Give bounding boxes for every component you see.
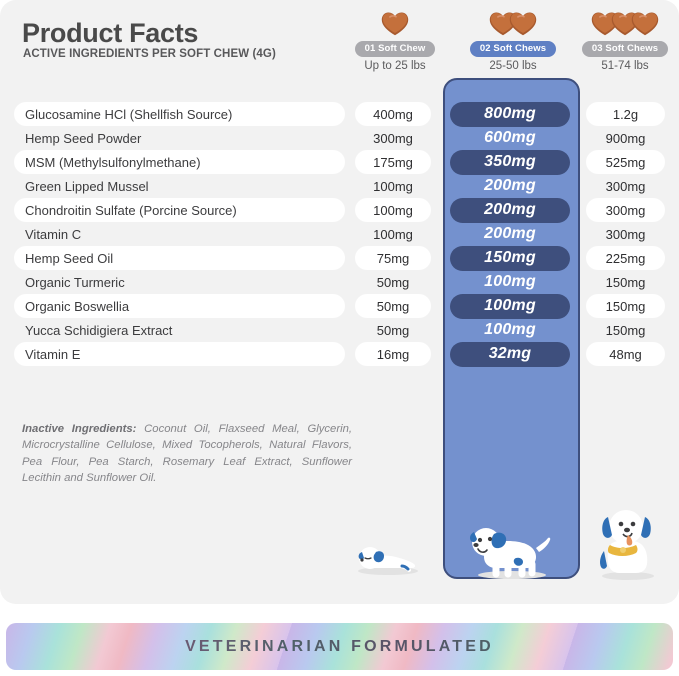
weight-range-label: 51-74 lbs bbox=[570, 60, 679, 72]
dose-value-2: 200mg bbox=[450, 198, 570, 223]
dose-value-1: 400mg bbox=[355, 102, 431, 126]
dose-value-3: 900mg bbox=[586, 126, 665, 150]
dose-value-3: 300mg bbox=[586, 174, 665, 198]
chew-count-badge: 02 Soft Chews bbox=[470, 41, 556, 57]
dose-value-1: 75mg bbox=[355, 246, 431, 270]
dose-value-3: 150mg bbox=[586, 318, 665, 342]
table-row: Vitamin C 100mg 200mg 300mg bbox=[14, 222, 665, 246]
dose-value-2: 200mg bbox=[450, 222, 570, 247]
chew-icon-group-2 bbox=[458, 8, 568, 38]
dose-value-3: 225mg bbox=[586, 246, 665, 270]
dose-value-3: 525mg bbox=[586, 150, 665, 174]
ingredient-name: Vitamin E bbox=[14, 342, 345, 366]
dose-value-1: 50mg bbox=[355, 318, 431, 342]
table-row: Green Lipped Mussel 100mg 200mg 300mg bbox=[14, 174, 665, 198]
dose-value-1: 50mg bbox=[355, 294, 431, 318]
dose-value-1: 300mg bbox=[355, 126, 431, 150]
ingredient-name: Green Lipped Mussel bbox=[14, 174, 345, 198]
dose-value-1: 50mg bbox=[355, 270, 431, 294]
dose-column-header-2: 02 Soft Chews 25-50 lbs bbox=[458, 8, 568, 72]
dose-value-3: 150mg bbox=[586, 294, 665, 318]
dose-value-3: 1.2g bbox=[586, 102, 665, 126]
sleeping-dog-illustration bbox=[352, 536, 422, 576]
dose-value-2: 100mg bbox=[450, 270, 570, 295]
chew-icon-group-1 bbox=[340, 8, 450, 38]
dose-value-3: 300mg bbox=[586, 198, 665, 222]
heart-chew-icon bbox=[508, 11, 538, 36]
dose-value-2: 800mg bbox=[450, 102, 570, 127]
ingredient-name: Organic Turmeric bbox=[14, 270, 345, 294]
chew-count-badge: 03 Soft Chews bbox=[582, 41, 668, 57]
ingredients-table: Glucosamine HCl (Shellfish Source) 400mg… bbox=[14, 102, 665, 366]
dose-value-3: 48mg bbox=[586, 342, 665, 366]
dose-value-1: 100mg bbox=[355, 222, 431, 246]
dose-value-2: 200mg bbox=[450, 174, 570, 199]
standing-dog-illustration bbox=[460, 518, 558, 580]
inactive-ingredients-label: Inactive Ingredients: bbox=[22, 423, 136, 435]
table-row: Organic Boswellia 50mg 100mg 150mg bbox=[14, 294, 665, 318]
table-row: Organic Turmeric 50mg 100mg 150mg bbox=[14, 270, 665, 294]
inactive-ingredients: Inactive Ingredients: Coconut Oil, Flaxs… bbox=[22, 421, 352, 487]
dose-value-2: 150mg bbox=[450, 246, 570, 271]
table-row: Hemp Seed Powder 300mg 600mg 900mg bbox=[14, 126, 665, 150]
ingredient-name: Hemp Seed Oil bbox=[14, 246, 345, 270]
ingredient-name: Hemp Seed Powder bbox=[14, 126, 345, 150]
dose-value-2: 32mg bbox=[450, 342, 570, 367]
product-facts-card: Product Facts ACTIVE INGREDIENTS PER SOF… bbox=[0, 0, 679, 604]
dose-value-1: 100mg bbox=[355, 174, 431, 198]
page-title: Product Facts bbox=[22, 18, 198, 49]
dose-value-3: 150mg bbox=[586, 270, 665, 294]
chew-icon-group-3 bbox=[570, 8, 679, 38]
dose-value-2: 100mg bbox=[450, 294, 570, 319]
weight-range-label: 25-50 lbs bbox=[458, 60, 568, 72]
dose-value-1: 16mg bbox=[355, 342, 431, 366]
ingredient-name: Organic Boswellia bbox=[14, 294, 345, 318]
dose-value-1: 100mg bbox=[355, 198, 431, 222]
heart-chew-icon bbox=[630, 11, 660, 36]
heart-chew-icon bbox=[380, 11, 410, 36]
dose-column-header-1: 01 Soft Chew Up to 25 lbs bbox=[340, 8, 450, 72]
sitting-dog-illustration bbox=[590, 505, 662, 581]
dose-column-header-3: 03 Soft Chews 51-74 lbs bbox=[570, 8, 679, 72]
banner-text: VETERINARIAN FORMULATED bbox=[185, 638, 494, 656]
dose-value-3: 300mg bbox=[586, 222, 665, 246]
ingredient-name: MSM (Methylsulfonylmethane) bbox=[14, 150, 345, 174]
ingredient-name: Vitamin C bbox=[14, 222, 345, 246]
dose-value-2: 350mg bbox=[450, 150, 570, 175]
table-row: Chondroitin Sulfate (Porcine Source) 100… bbox=[14, 198, 665, 222]
table-row: Yucca Schidigiera Extract 50mg 100mg 150… bbox=[14, 318, 665, 342]
ingredient-name: Chondroitin Sulfate (Porcine Source) bbox=[14, 198, 345, 222]
dose-value-2: 100mg bbox=[450, 318, 570, 343]
dose-value-2: 600mg bbox=[450, 126, 570, 151]
dose-value-1: 175mg bbox=[355, 150, 431, 174]
page-subtitle: ACTIVE INGREDIENTS PER SOFT CHEW (4G) bbox=[23, 48, 276, 60]
ingredient-name: Yucca Schidigiera Extract bbox=[14, 318, 345, 342]
chew-count-badge: 01 Soft Chew bbox=[355, 41, 436, 57]
veterinarian-formulated-banner: VETERINARIAN FORMULATED bbox=[6, 623, 673, 670]
table-row: Vitamin E 16mg 32mg 48mg bbox=[14, 342, 665, 366]
weight-range-label: Up to 25 lbs bbox=[340, 60, 450, 72]
table-row: MSM (Methylsulfonylmethane) 175mg 350mg … bbox=[14, 150, 665, 174]
table-row: Hemp Seed Oil 75mg 150mg 225mg bbox=[14, 246, 665, 270]
table-row: Glucosamine HCl (Shellfish Source) 400mg… bbox=[14, 102, 665, 126]
ingredient-name: Glucosamine HCl (Shellfish Source) bbox=[14, 102, 345, 126]
